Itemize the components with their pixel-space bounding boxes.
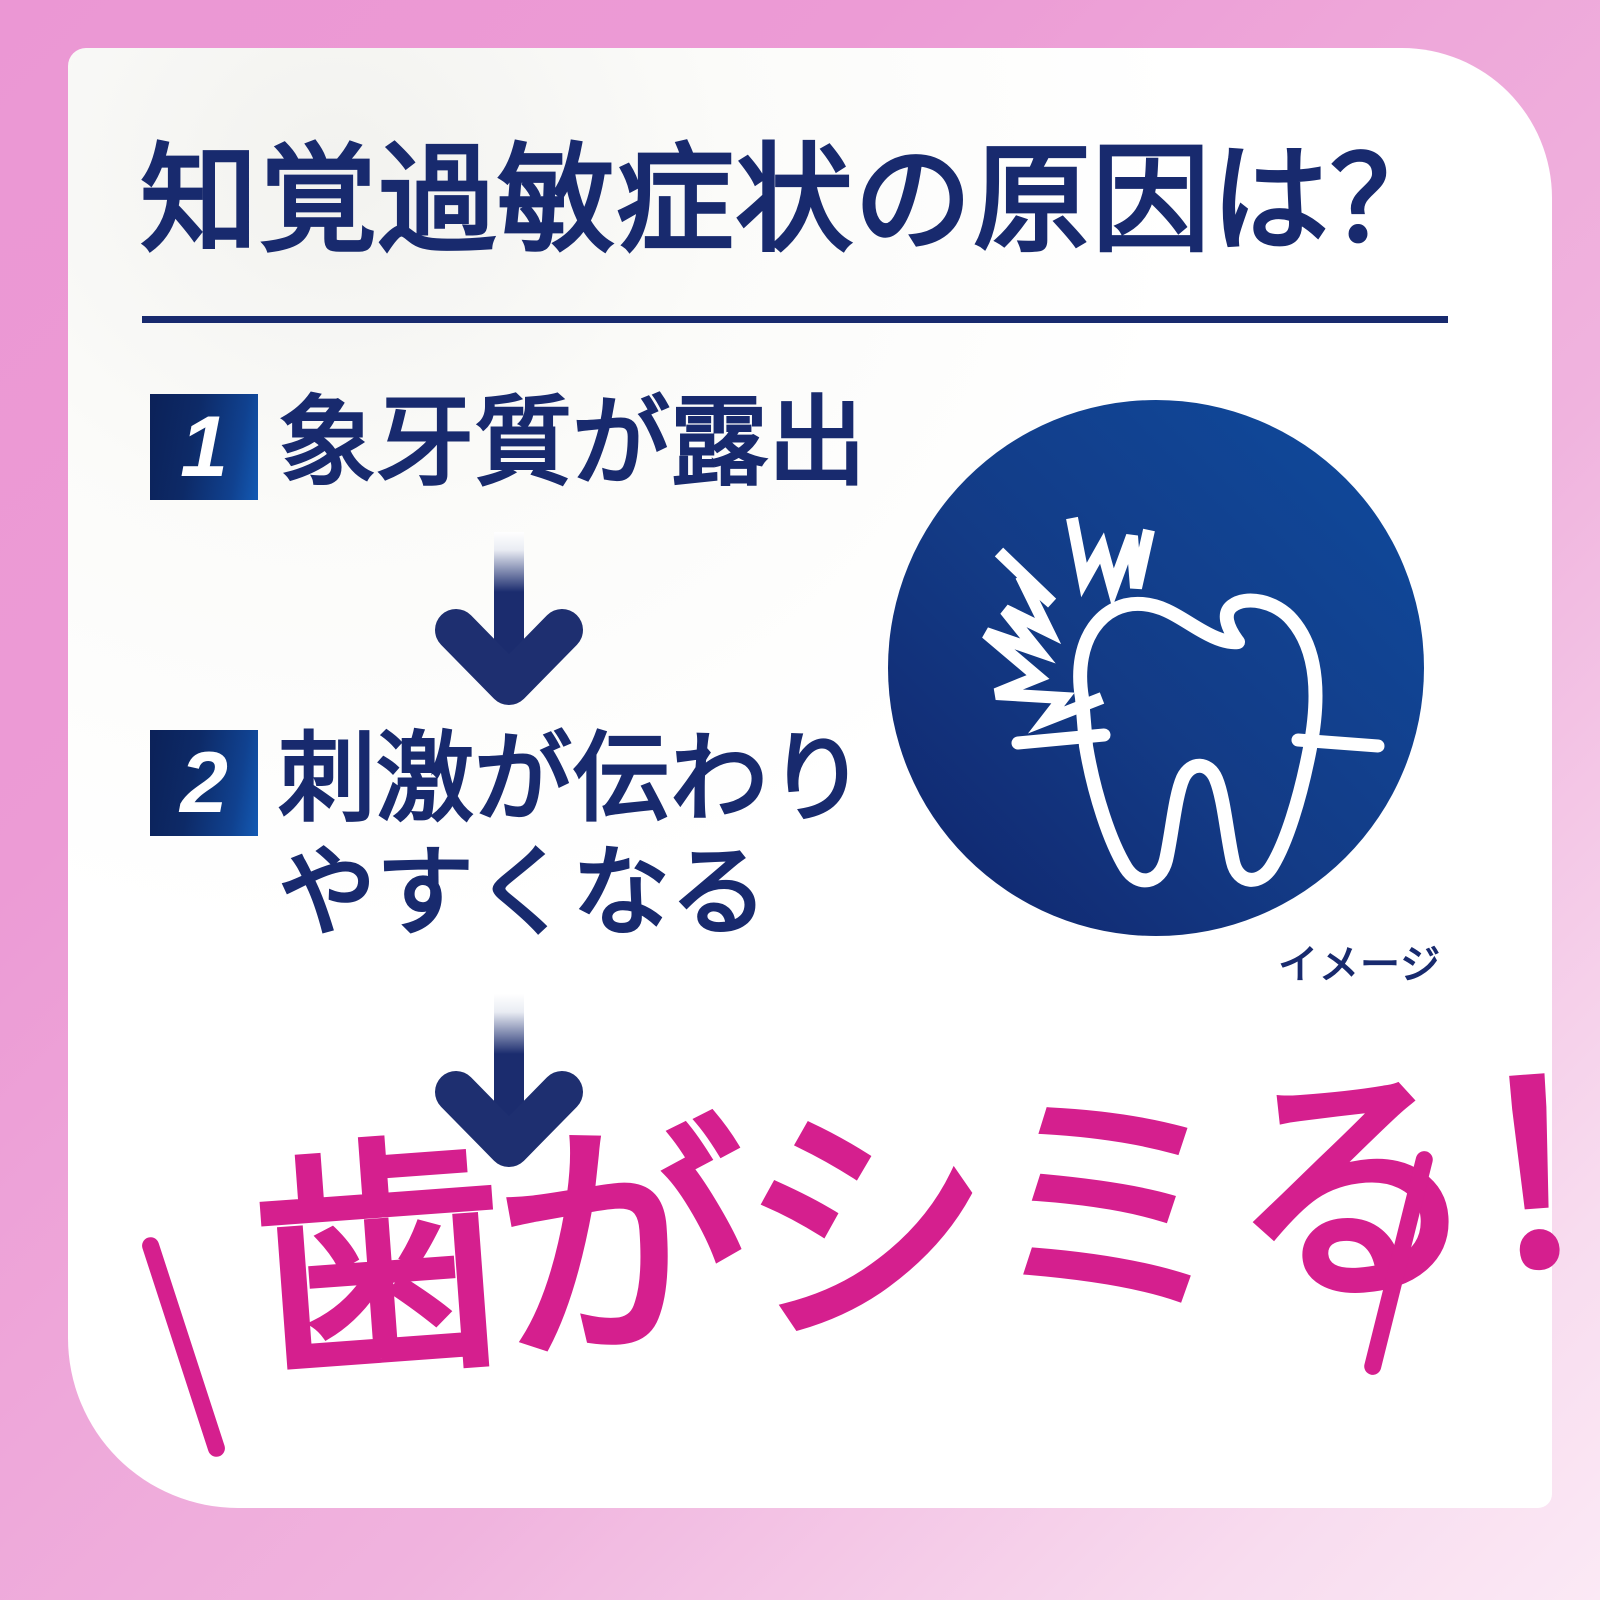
page-title: 知覚過敏症状の原因は？ [140,142,1460,260]
infographic-canvas: 知覚過敏症状の原因は？ 1 象牙質が露出 2 刺激が伝わり やすくなる [0,0,1600,1600]
step-badge-1: 1 [150,394,258,500]
illustration-caption: イメージ [1278,932,1441,990]
step-label-1: 象牙質が露出 [278,386,866,500]
title-divider [142,316,1448,323]
tooth-pain-icon [886,398,1426,938]
step-label-2: 刺激が伝わり やすくなる [278,722,878,949]
step-badge-2: 2 [150,730,258,836]
arrow-down-icon-1 [434,532,584,712]
